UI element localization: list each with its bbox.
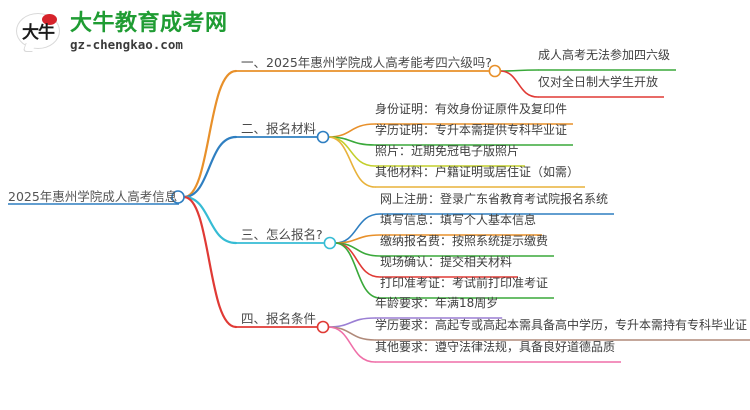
leaf-curve-3-5 (335, 243, 380, 298)
leaf-label-2-2[interactable]: 学历证明：专升本需提供专科毕业证 (375, 124, 567, 136)
branch-curve-3 (184, 197, 236, 243)
mindmap-page: 大牛 大牛教育成考网 gz-chengkao.com 2025年惠州学院成人高考… (0, 0, 750, 410)
branch-node-circle-2[interactable] (318, 132, 329, 143)
branch-node-circle-3[interactable] (324, 238, 335, 249)
root-node-label[interactable]: 2025年惠州学院成人高考信息 (8, 191, 177, 204)
leaf-label-3-1[interactable]: 网上注册：登录广东省教育考试院报名系统 (380, 193, 608, 205)
leaf-curve-1-2 (500, 71, 538, 97)
leaf-label-3-3[interactable]: 缴纳报名费：按照系统提示缴费 (380, 235, 548, 247)
leaf-label-3-2[interactable]: 填写信息：填写个人基本信息 (380, 214, 536, 226)
branch-curve-4 (184, 197, 236, 327)
leaf-label-2-4[interactable]: 其他材料：户籍证明或居住证（如需） (375, 166, 579, 178)
leaf-label-4-2[interactable]: 学历要求：高起专或高起本需具备高中学历，专升本需持有专科毕业证 (375, 319, 747, 331)
leaf-label-2-3[interactable]: 照片：近期免冠电子版照片 (375, 145, 519, 157)
leaf-label-3-5[interactable]: 打印准考证：考试前打印准考证 (380, 277, 548, 289)
leaf-curve-4-3 (328, 327, 375, 362)
branch-label-3[interactable]: 三、怎么报名? (241, 229, 323, 242)
branch-label-1[interactable]: 一、2025年惠州学院成人高考能考四六级吗? (241, 57, 492, 70)
leaf-label-4-1[interactable]: 年龄要求：年满18周岁 (375, 297, 498, 309)
leaf-curve-1-1 (500, 70, 538, 71)
branch-label-2[interactable]: 二、报名材料 (241, 123, 316, 136)
branch-curve-1 (184, 71, 236, 197)
leaf-curve-4-1 (328, 318, 375, 327)
leaf-label-2-1[interactable]: 身份证明：有效身份证原件及复印件 (375, 103, 567, 115)
leaf-label-1-2[interactable]: 仅对全日制大学生开放 (538, 76, 658, 88)
branch-curve-2 (184, 137, 236, 197)
branch-label-4[interactable]: 四、报名条件 (241, 313, 316, 326)
branch-node-circle-4[interactable] (318, 322, 329, 333)
leaf-label-4-3[interactable]: 其他要求：遵守法律法规，具备良好道德品质 (375, 341, 615, 353)
leaf-curve-2-1 (328, 124, 375, 137)
leaf-label-1-1[interactable]: 成人高考无法参加四六级 (538, 49, 670, 61)
leaf-label-3-4[interactable]: 现场确认：提交相关材料 (380, 256, 512, 268)
